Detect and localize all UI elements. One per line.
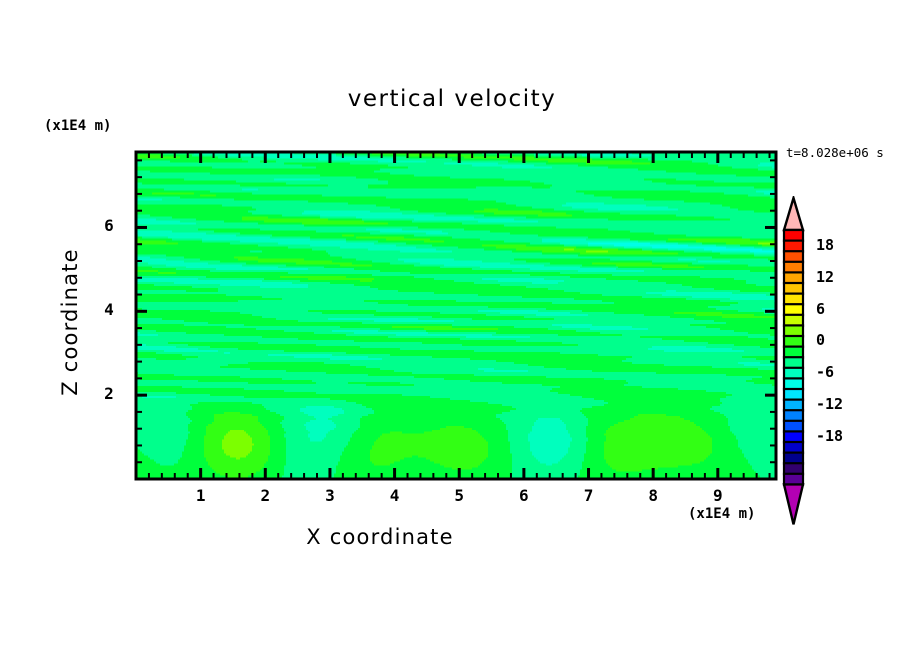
- colorbar-tick-label: 18: [816, 236, 834, 254]
- y-axis-title: Z coordinate: [58, 222, 82, 422]
- plot-axes-frame: [130, 146, 784, 491]
- colorbar-tick-label: 12: [816, 268, 834, 286]
- x-tick-label: 2: [245, 486, 285, 505]
- colorbar-tick-label: -12: [816, 395, 843, 413]
- x-tick-label: 6: [504, 486, 544, 505]
- x-tick-label: 5: [439, 486, 479, 505]
- x-tick-label: 7: [569, 486, 609, 505]
- x-axis-unit-label: (x1E4 m): [688, 506, 755, 522]
- x-axis-title: X coordinate: [0, 525, 760, 549]
- colorbar-tick-label: -18: [816, 427, 843, 445]
- x-tick-label: 1: [181, 486, 221, 505]
- x-tick-label: 8: [633, 486, 673, 505]
- colorbar-tick-label: 0: [816, 331, 825, 349]
- y-axis-unit-label: (x1E4 m): [44, 118, 111, 134]
- colorbar-tick-label: -6: [816, 363, 834, 381]
- x-tick-label: 3: [310, 486, 350, 505]
- timestamp-annotation: t=8.028e+06 s: [786, 145, 884, 160]
- x-tick-label: 4: [375, 486, 415, 505]
- y-tick-label: 6: [94, 216, 124, 235]
- x-tick-label: 9: [698, 486, 738, 505]
- y-tick-label: 2: [94, 384, 124, 403]
- y-tick-label: 4: [94, 300, 124, 319]
- page-title: vertical velocity: [0, 86, 904, 112]
- colorbar: [778, 196, 818, 526]
- colorbar-tick-label: 6: [816, 300, 825, 318]
